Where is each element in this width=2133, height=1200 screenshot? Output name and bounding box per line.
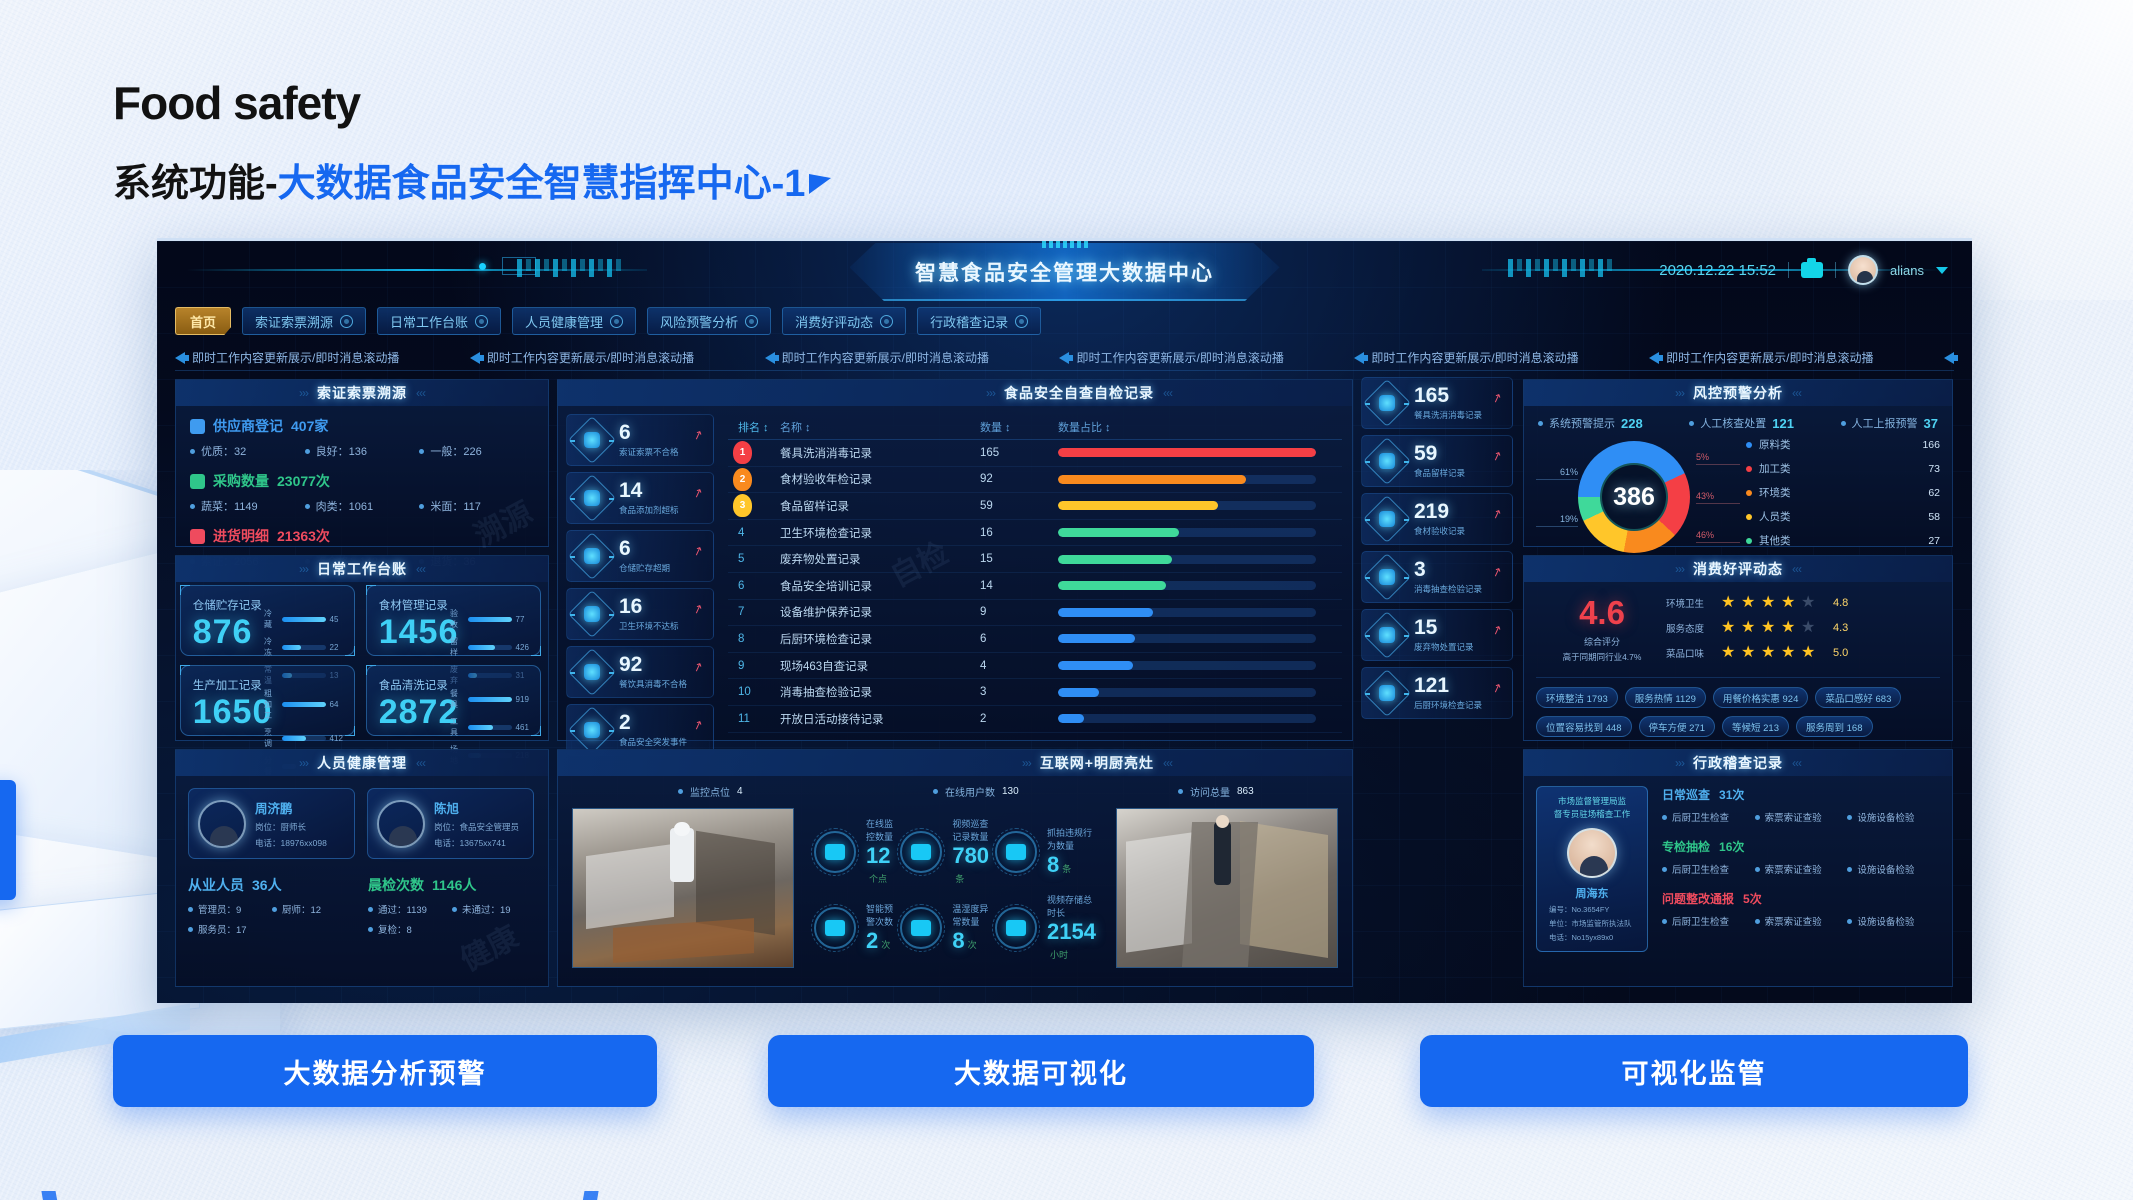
source-group-0: 供应商登记407家优质：32良好：136一般：226 <box>190 416 534 459</box>
medal-icon: 1 <box>733 441 752 464</box>
staff-name: 陈旭 <box>434 798 519 817</box>
monitor-icon <box>1538 421 1543 426</box>
ledger-card-0[interactable]: 仓储贮存记录876冷藏45冷冻22常温13 <box>180 585 355 655</box>
avatar[interactable] <box>1848 255 1878 285</box>
source-subcell-0: 优质：32 <box>190 443 305 459</box>
icon-glyph <box>825 844 845 860</box>
nav-tabs: 首页索证索票溯源日常工作台账人员健康管理风险预警分析消费好评动态行政稽查记录 <box>175 307 1041 335</box>
inspect-group-cells: 后厨卫生检查索票索证查验设施设备检验 <box>1662 862 1940 876</box>
table-col-2[interactable]: 数量 ↕ <box>980 419 1058 435</box>
trend-arrow-icon: ↗ <box>1490 390 1504 407</box>
bar-key: 工具 <box>450 716 464 738</box>
kitchen-stat-unit: 小时 <box>1050 950 1068 960</box>
stat-label: 食品安全突发事件 <box>619 736 687 748</box>
gear-icon[interactable] <box>1015 315 1028 328</box>
bar-value: 426 <box>516 643 530 652</box>
legend-label: 人员类 <box>1759 509 1791 524</box>
risk-header-label: 人工核查处置 <box>1700 415 1766 431</box>
table-row[interactable]: 10消毒抽查检验记录3 <box>728 679 1342 706</box>
bar-track <box>1058 475 1316 484</box>
stat-label: 餐具洗消消毒记录 <box>1414 409 1482 421</box>
panel-title: 风控预警分析 <box>1693 383 1783 403</box>
review-chip-2[interactable]: 用餐价格实惠 924 <box>1713 687 1809 708</box>
review-stars: ★★★★★ <box>1721 594 1818 611</box>
trend-arrow-icon: ↗ <box>691 717 705 734</box>
table-row[interactable]: 6食品安全培训记录14 <box>728 573 1342 600</box>
stat-value: 121 <box>1414 675 1482 696</box>
table-row[interactable]: 3食品留样记录59 <box>728 493 1342 520</box>
marquee-item: 即时工作内容更新展示/即时消息滚动播 <box>1649 349 1873 366</box>
nav-tab-1[interactable]: 索证索票溯源 <box>242 307 366 335</box>
review-label: 服务态度 <box>1666 621 1712 635</box>
kitchen-stat-3[interactable]: 智能预警次数2次 <box>814 890 894 966</box>
marquee-item: 即时工作内容更新展示/即时消息滚动播 <box>1354 349 1578 366</box>
user-icon <box>1368 674 1406 712</box>
kitchen-stat-5[interactable]: 视频存储总时长2154小时 <box>995 890 1096 966</box>
self-check-stat-1[interactable]: 14食品添加剂超标↗ <box>566 472 714 524</box>
review-chip-5[interactable]: 停车方便 271 <box>1639 716 1716 737</box>
row-name: 食品安全培训记录 <box>780 578 980 594</box>
bar-fill <box>1058 555 1172 564</box>
decorative-blue-chip <box>0 780 16 900</box>
marquee-text: 即时工作内容更新展示/即时消息滚动播 <box>192 349 399 366</box>
inspect-cell-1: 索票索证查验 <box>1755 862 1848 876</box>
row-name: 消毒抽查检验记录 <box>780 684 980 700</box>
review-chip-7[interactable]: 服务周到 168 <box>1796 716 1873 737</box>
cart-icon <box>190 474 205 489</box>
bar-track <box>468 617 512 622</box>
ledger-card-2[interactable]: 生产加工记录1650粗加工64烹调412分餐86 <box>180 665 355 735</box>
review-chip-3[interactable]: 菜品口感好 683 <box>1815 687 1901 708</box>
source-group-label: 采购数量 <box>213 471 269 491</box>
legend-row-1: 加工类73 <box>1746 461 1940 476</box>
close-icon <box>1368 384 1406 422</box>
inspect-cell-0: 后厨卫生检查 <box>1662 862 1755 876</box>
row-value: 59 <box>980 500 1058 512</box>
self-check-side-stat-1[interactable]: 59食品留样记录↗ <box>1361 435 1513 487</box>
staff-info: 周济鹏岗位：厨师长电话：18976xx098 <box>255 798 327 849</box>
marquee-item: 即时工作内容更新展示/即时消息滚动播 <box>1059 349 1283 366</box>
bar-fill <box>282 702 326 707</box>
source-subcell-2: 一般：226 <box>419 443 534 459</box>
inspect-cell-text: 设施设备检验 <box>1857 914 1914 928</box>
cup-icon <box>573 653 611 691</box>
row-rank: 11 <box>728 713 780 725</box>
ledger-bar-0: 餐具919 <box>450 688 530 710</box>
legend-swatch <box>1746 490 1752 496</box>
video-icon <box>814 831 856 873</box>
row-value: 3 <box>980 686 1058 698</box>
kitchen-stat-value: 12 <box>866 843 890 868</box>
alert-icon <box>995 831 1037 873</box>
bar-track <box>468 725 512 730</box>
inspect-cell-0: 后厨卫生检查 <box>1662 810 1755 824</box>
stat-label: 食品留样记录 <box>1414 467 1465 479</box>
staff-card-0[interactable]: 周济鹏岗位：厨师长电话：18976xx098 <box>188 788 355 859</box>
subcell-text: 肉类：1061 <box>316 498 373 514</box>
nav-tab-6[interactable]: 行政稽查记录 <box>917 307 1041 335</box>
self-check-stat-3[interactable]: 16卫生环境不达标↗ <box>566 588 714 640</box>
kitchen-stat-label: 抓拍违规行为数量 <box>1047 826 1096 852</box>
icon-glyph <box>1006 844 1026 860</box>
screen-icon <box>814 907 856 949</box>
inspect-cell-text: 索票索证查验 <box>1765 862 1822 876</box>
risk-right-label-2: 46% <box>1696 530 1740 543</box>
nav-tab-3[interactable]: 人员健康管理 <box>512 307 636 335</box>
table-row[interactable]: 7设备维护保养记录9 <box>728 600 1342 627</box>
gear-icon[interactable] <box>610 315 623 328</box>
inspect-cell-text: 后厨卫生检查 <box>1672 862 1729 876</box>
marquee-item: 即时工作内容更新展示/即时消息滚动播 <box>470 349 694 366</box>
kitchen-stat-value-row: 8次 <box>952 928 989 954</box>
bar-key: 冷藏 <box>264 608 278 630</box>
ledger-bar-0: 验收77 <box>450 608 530 630</box>
kitchen-stat-value-row: 2154小时 <box>1047 919 1096 963</box>
bar-fill <box>1058 581 1166 590</box>
camera-icon[interactable] <box>1801 262 1823 278</box>
health-summary-label: 从业人员 <box>188 875 244 895</box>
nav-tab-label: 行政稽查记录 <box>930 312 1008 331</box>
kitchen-stat-0[interactable]: 在线监控数量12个点 <box>814 814 894 890</box>
review-row-0: 环境卫生★★★★★4.8 <box>1666 594 1938 611</box>
nav-tab-label: 索证索票溯源 <box>255 312 333 331</box>
kitchen-stat-value: 2 <box>866 928 878 953</box>
kitchen-stat-value: 8 <box>952 928 964 953</box>
inspect-group-cells: 后厨卫生检查索票索证查验设施设备检验 <box>1662 810 1940 824</box>
row-bar <box>1058 634 1342 643</box>
inspect-cell-text: 设施设备检验 <box>1857 810 1914 824</box>
box-icon <box>573 537 611 575</box>
row-name: 现场463自查记录 <box>780 658 980 674</box>
review-chip-0[interactable]: 环境整洁 1793 <box>1536 687 1618 708</box>
kitchen-stat-value: 8 <box>1047 852 1059 877</box>
footer-button-supervision[interactable]: 可视化监管 <box>1420 1035 1968 1107</box>
dashboard-title: 智慧食品安全管理大数据中心 <box>915 257 1214 287</box>
legend-row-4: 其他类27 <box>1746 533 1940 548</box>
row-bar <box>1058 555 1342 564</box>
review-row-1: 服务态度★★★★★4.3 <box>1666 619 1938 636</box>
row-bar <box>1058 581 1342 590</box>
stat-text: 14食品添加剂超标 <box>619 480 679 516</box>
health-summary-head: 从业人员36人 <box>188 875 356 895</box>
ledger-bar-0: 冷藏45 <box>264 608 344 630</box>
gear-icon[interactable] <box>340 315 353 328</box>
stat-value: 92 <box>619 654 687 675</box>
stat-value: 14 <box>619 480 679 501</box>
table-col-0[interactable]: 排名 ↕ <box>728 419 780 435</box>
star-icon: ★ <box>1761 594 1778 611</box>
heart-icon <box>1368 500 1406 538</box>
footer-button-visualization[interactable]: 大数据可视化 <box>768 1035 1314 1107</box>
camera-feed-left[interactable] <box>572 808 794 968</box>
row-name: 废弃物处置记录 <box>780 551 980 567</box>
panel-inspection-records: ››› 行政稽查记录 ‹‹‹ 市场监督管理局监 督专员驻场稽查工作 周海东 编号… <box>1523 749 1953 987</box>
bar-key: 验收 <box>450 608 464 630</box>
panel-self-inspection: ››› 食品安全自查自检记录 ‹‹‹ 6索证索票不合格↗14食品添加剂超标↗6仓… <box>557 379 1353 741</box>
bar-value: 412 <box>330 734 344 743</box>
table-row[interactable]: 9现场463自查记录4 <box>728 653 1342 680</box>
row-rank: 1 <box>728 441 780 464</box>
row-value: 9 <box>980 606 1058 618</box>
row-bar <box>1058 608 1342 617</box>
kitchen-stat-1[interactable]: 视频巡查记录数量780条 <box>900 814 989 890</box>
bar-fill <box>282 645 301 650</box>
stat-text: 92餐饮具消毒不合格 <box>619 654 687 690</box>
legend-swatch <box>1746 538 1752 544</box>
table-row[interactable]: 2食材验收年检记录92 <box>728 467 1342 494</box>
inspect-group-label: 问题整改通报 <box>1662 890 1734 907</box>
inspect-cell-text: 后厨卫生检查 <box>1672 810 1729 824</box>
stat-text: 219食材验收记录 <box>1414 501 1465 537</box>
panel-consumer-reviews: ››› 消费好评动态 ‹‹‹ 4.6 综合评分 高于同期同行业4.7% 环境卫生… <box>1523 555 1953 741</box>
marquee-text: 即时工作内容更新展示/即时消息滚动播 <box>1371 349 1578 366</box>
self-check-side-stat-3[interactable]: 3消毒抽查检验记录↗ <box>1361 551 1513 603</box>
chevron-down-icon[interactable] <box>1936 267 1948 274</box>
risk-header-value: 121 <box>1772 416 1794 431</box>
ledger-card-1[interactable]: 食材管理记录1456验收77留样426废弃31 <box>366 585 541 655</box>
risk-left-label-0: 61% <box>1536 467 1578 480</box>
bullet-icon <box>188 907 193 912</box>
speaker-icon <box>1354 352 1364 364</box>
inspector-id-card: 市场监督管理局监 督专员驻场稽查工作 周海东 编号：No.3654FY单位：市场… <box>1536 786 1648 952</box>
kitchen-stat-value: 2154 <box>1047 919 1096 944</box>
gear-icon[interactable] <box>475 315 488 328</box>
row-bar <box>1058 501 1342 510</box>
risk-right-label-1: 43% <box>1696 491 1740 504</box>
bar-track <box>1058 634 1316 643</box>
check-icon <box>573 595 611 633</box>
inspect-group-value: 16次 <box>1719 838 1744 855</box>
risk-header-value: 228 <box>1621 416 1643 431</box>
drop-icon <box>1368 442 1406 480</box>
self-check-side-stat-4[interactable]: 15废弃物处置记录↗ <box>1361 609 1513 661</box>
inspector-name: 周海东 <box>1543 885 1641 901</box>
health-summary-value: 36人 <box>252 875 282 895</box>
bar-track <box>1058 528 1316 537</box>
stat-label: 餐饮具消毒不合格 <box>619 678 687 690</box>
icon-glyph <box>825 920 845 936</box>
table-row[interactable]: 5废弃物处置记录15 <box>728 546 1342 573</box>
bar-track <box>1058 688 1316 697</box>
table-row[interactable]: 8后厨环境检查记录6 <box>728 626 1342 653</box>
star-icon: ★ <box>1721 619 1738 636</box>
gear-icon[interactable] <box>880 315 893 328</box>
bar-key: 烹调 <box>264 727 278 749</box>
row-name: 卫生环境检查记录 <box>780 525 980 541</box>
review-value: 4.8 <box>1833 597 1848 609</box>
kitchen-stat-text: 在线监控数量12个点 <box>866 817 894 887</box>
table-col-3[interactable]: 数量占比 ↕ <box>1058 419 1342 435</box>
kitchen-stat-value-row: 780条 <box>952 843 989 887</box>
subcell-text: 一般：226 <box>430 443 481 459</box>
row-name: 开放日活动接待记录 <box>780 711 980 727</box>
header-datetime: 2020.12.22 15:52 <box>1659 262 1776 279</box>
camera-feed-right[interactable] <box>1116 808 1338 968</box>
kitchen-stat-unit: 条 <box>955 874 964 884</box>
bullet-icon <box>190 449 195 454</box>
self-check-stat-4[interactable]: 92餐饮具消毒不合格↗ <box>566 646 714 698</box>
table-col-1[interactable]: 名称 ↕ <box>780 419 980 435</box>
health-summary-1: 晨检次数1146人通过：1139未通过：19复检：8 <box>368 875 536 942</box>
kitchen-stat-4[interactable]: 温湿度异常数量8次 <box>900 890 989 966</box>
kitchen-stat-text: 抓拍违规行为数量8条 <box>1047 826 1096 878</box>
star-icon: ★ <box>1721 594 1738 611</box>
kitchen-stat-label: 视频巡查记录数量 <box>952 817 989 843</box>
kitchen-stat-unit: 次 <box>881 940 890 950</box>
kitchen-stat-2[interactable]: 抓拍违规行为数量8条 <box>995 814 1096 890</box>
gear-icon[interactable] <box>745 315 758 328</box>
id-card-header: 市场监督管理局监 督专员驻场稽查工作 <box>1543 795 1641 821</box>
nav-tab-2[interactable]: 日常工作台账 <box>377 307 501 335</box>
bullet-icon <box>1662 919 1667 924</box>
storage-icon <box>995 907 1037 949</box>
legend-swatch <box>1746 514 1752 520</box>
marquee-text: 即时工作内容更新展示/即时消息滚动播 <box>487 349 694 366</box>
risk-header-label: 人工上报预警 <box>1852 415 1918 431</box>
review-chip-6[interactable]: 等候短 213 <box>1722 716 1789 737</box>
self-check-stat-2[interactable]: 6仓储贮存超期↗ <box>566 530 714 582</box>
kitchen-mid-meta: 在线用户数 130 <box>933 784 1019 799</box>
staff-line-1: 电话：18976xx098 <box>255 837 327 849</box>
bar-key: 粗加工 <box>264 688 278 721</box>
health-cell-1: 未通过：19 <box>452 902 536 916</box>
self-check-side-stat-5[interactable]: 121后厨环境检查记录↗ <box>1361 667 1513 719</box>
kitchen-stat-value-row: 8条 <box>1047 852 1096 878</box>
bar-value: 45 <box>330 615 344 624</box>
flask-icon <box>573 479 611 517</box>
panel-daily-ledger: ››› 日常工作台账 ‹‹‹ 仓储贮存记录876冷藏45冷冻22常温13食材管理… <box>175 555 549 741</box>
nav-tab-label: 消费好评动态 <box>795 312 873 331</box>
nav-tab-4[interactable]: 风险预警分析 <box>647 307 771 335</box>
bar-track <box>1058 555 1316 564</box>
bar-track <box>1058 608 1316 617</box>
id-card-line-2: 电话：No15yx89x0 <box>1543 932 1641 943</box>
row-value: 4 <box>980 660 1058 672</box>
star-icon: ★ <box>1781 644 1798 661</box>
legend-label: 原料类 <box>1759 437 1791 452</box>
health-cell-text: 复检：8 <box>378 922 412 936</box>
row-rank: 6 <box>728 580 780 592</box>
bullet-icon <box>368 907 373 912</box>
marquee-text: 即时工作内容更新展示/即时消息滚动播 <box>1076 349 1283 366</box>
stat-label: 消毒抽查检验记录 <box>1414 583 1482 595</box>
stat-value: 3 <box>1414 559 1482 580</box>
stat-label: 食品添加剂超标 <box>619 504 679 516</box>
bar-fill <box>1058 714 1084 723</box>
bar-value: 461 <box>516 723 530 732</box>
person-icon <box>1841 421 1846 426</box>
inspect-cell-2: 设施设备检验 <box>1847 810 1940 824</box>
self-check-side-stat-2[interactable]: 219食材验收记录↗ <box>1361 493 1513 545</box>
stat-value: 6 <box>619 422 679 443</box>
table-row[interactable]: 4卫生环境检查记录16 <box>728 520 1342 547</box>
bar-track <box>1058 501 1316 510</box>
trend-arrow-icon: ↗ <box>1490 448 1504 465</box>
bar-fill <box>468 697 512 702</box>
speaker-icon[interactable] <box>1944 352 1954 364</box>
kitchen-stat-unit: 个点 <box>869 874 887 884</box>
review-stars: ★★★★★ <box>1721 644 1818 661</box>
row-rank: 8 <box>728 633 780 645</box>
kitchen-right-meta: 访问总量 863 <box>1178 784 1254 799</box>
nav-tab-5[interactable]: 消费好评动态 <box>782 307 906 335</box>
header-right-tools: 2020.12.22 15:52 alians <box>1659 255 1948 285</box>
self-check-side-stat-0[interactable]: 165餐具洗消消毒记录↗ <box>1361 377 1513 429</box>
bullet-icon <box>1662 815 1667 820</box>
kitchen-stat-label: 智能预警次数 <box>866 902 894 928</box>
health-summary-0: 从业人员36人管理员：9厨师：12服务员：17 <box>188 875 356 942</box>
bar-track <box>282 645 326 650</box>
source-group-label: 进货明细 <box>213 526 269 546</box>
table-row[interactable]: 1餐具洗消消毒记录165 <box>728 440 1342 467</box>
bullet-icon <box>1847 919 1852 924</box>
review-chip-4[interactable]: 位置容易找到 448 <box>1536 716 1632 737</box>
inspect-group-2: 问题整改通报5次后厨卫生检查索票索证查验设施设备检验 <box>1662 890 1940 928</box>
bullet-icon <box>419 449 424 454</box>
inspect-cell-1: 索票索证查验 <box>1755 914 1848 928</box>
kitchen-stat-unit: 条 <box>1062 864 1071 874</box>
legend-value: 166 <box>1922 439 1940 451</box>
ledger-card-3[interactable]: 食品清洗记录2872餐具919工具461场地218 <box>366 665 541 735</box>
shield-icon <box>573 711 611 749</box>
source-subcell-0: 蔬菜：1149 <box>190 498 305 514</box>
speaker-icon <box>1649 352 1659 364</box>
marquee-item: 即时工作内容更新展示/即时消息滚动播 <box>765 349 989 366</box>
table-row[interactable]: 11开放日活动接待记录2 <box>728 706 1342 733</box>
doc-icon <box>573 421 611 459</box>
staff-card-1[interactable]: 陈旭岗位：食品安全管理员电话：13675xx741 <box>367 788 534 859</box>
trend-arrow-icon: ↗ <box>1490 680 1504 697</box>
health-cell-2: 复检：8 <box>368 922 452 936</box>
stat-text: 6索证索票不合格 <box>619 422 679 458</box>
self-check-stat-0[interactable]: 6索证索票不合格↗ <box>566 414 714 466</box>
panel-title: 消费好评动态 <box>1693 559 1783 579</box>
dashboard-screenshot: 智慧食品安全管理大数据中心 2020.12.22 15:52 alians 首页… <box>157 238 1972 1003</box>
panel-title: 行政稽查记录 <box>1693 753 1783 773</box>
bar-fill <box>282 617 326 622</box>
source-subcell-1: 良好：136 <box>305 443 420 459</box>
legend-label: 其他类 <box>1759 533 1791 548</box>
inspect-group-value: 31次 <box>1719 786 1744 803</box>
bar-track <box>1058 661 1316 670</box>
review-chip-1[interactable]: 服务热情 1129 <box>1625 687 1706 708</box>
star-icon: ★ <box>1761 619 1778 636</box>
legend-row-3: 人员类58 <box>1746 509 1940 524</box>
bar-key: 留样 <box>450 636 464 658</box>
footer-button-analytics[interactable]: 大数据分析预警 <box>113 1035 657 1107</box>
review-label: 菜品口味 <box>1666 646 1712 660</box>
risk-right-label-0: 5% <box>1696 452 1740 465</box>
panel-bright-kitchen: ››› 互联网+明厨亮灶 ‹‹‹ 监控点位 4 在线用户数 130 访问总量 8… <box>557 749 1353 987</box>
marquee-text: 即时工作内容更新展示/即时消息滚动播 <box>782 349 989 366</box>
page-title-cn-prefix: 系统功能- <box>113 163 278 205</box>
medal-icon: 2 <box>733 468 752 491</box>
review-row-2: 菜品口味★★★★★5.0 <box>1666 644 1938 661</box>
source-group-value: 407家 <box>291 416 328 436</box>
stat-text: 59食品留样记录 <box>1414 443 1465 479</box>
staff-name: 周济鹏 <box>255 798 327 817</box>
nav-tab-0[interactable]: 首页 <box>175 307 231 335</box>
health-cell-1: 厨师：12 <box>272 902 356 916</box>
table-header: 排名 ↕名称 ↕数量 ↕数量占比 ↕ <box>728 414 1342 440</box>
risk-legend: 原料类166加工类73环境类62人员类58其他类27 <box>1740 437 1940 557</box>
inspect-cell-2: 设施设备检验 <box>1847 914 1940 928</box>
staff-line-0: 岗位：食品安全管理员 <box>434 821 519 833</box>
bullet-icon <box>419 504 424 509</box>
kitchen-stat-label: 视频存储总时长 <box>1047 893 1096 919</box>
bar-track <box>468 697 512 702</box>
star-icon: ★ <box>1761 644 1778 661</box>
